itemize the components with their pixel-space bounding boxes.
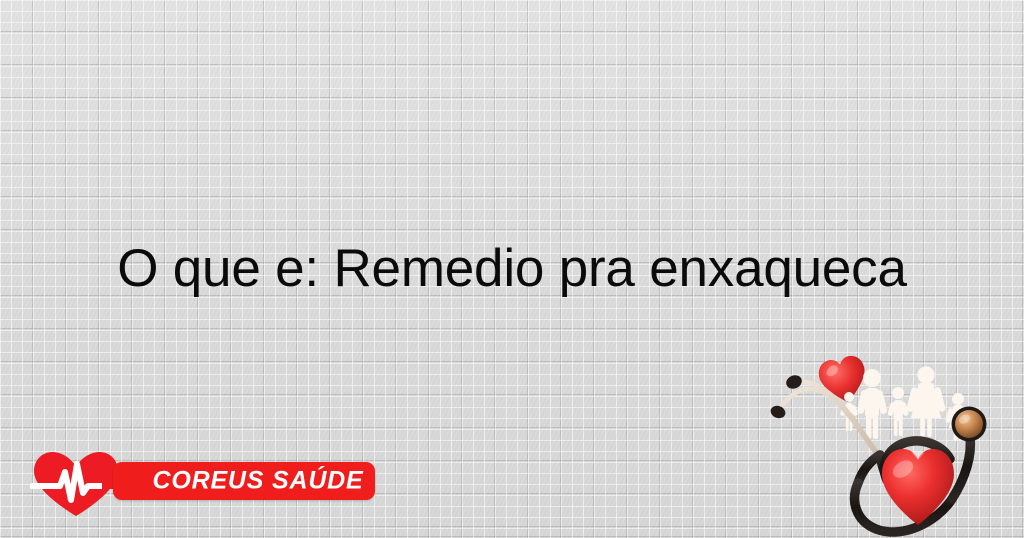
brand-name-label: COREUS SAÚDE bbox=[113, 467, 375, 496]
page-title: O que e: Remedio pra enxaqueca bbox=[0, 238, 1024, 300]
banner-canvas: O que e: Remedio pra enxaqueca COREUS SA… bbox=[0, 0, 1024, 538]
stethoscope-chestpiece-icon bbox=[952, 407, 987, 442]
brand-badge: COREUS SAÚDE bbox=[113, 462, 375, 500]
heart-pulse-icon bbox=[30, 450, 122, 518]
health-family-stethoscope-illustration bbox=[770, 345, 1024, 538]
stethoscope-eartips bbox=[770, 373, 804, 420]
brand-logo: COREUS SAÚDE bbox=[30, 450, 360, 520]
